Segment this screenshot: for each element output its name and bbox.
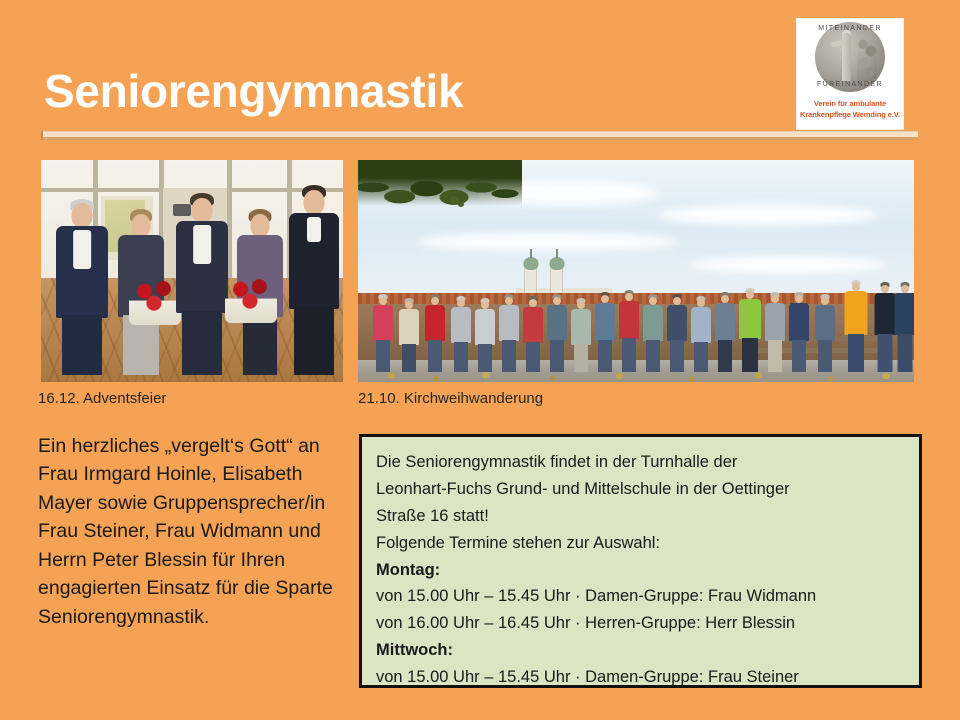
person-figure	[113, 203, 169, 375]
logo-arc-bottom: FÜREINANDER	[797, 81, 903, 88]
person-figure	[738, 288, 762, 372]
person-legs	[243, 315, 277, 375]
person-figure	[522, 296, 544, 372]
person-legs	[526, 342, 540, 372]
presentation-slide: Seniorengymnastik MITEINANDER FÜREINANDE…	[0, 0, 960, 720]
person-figure	[285, 185, 343, 375]
person-legs	[718, 340, 732, 372]
person-legs	[376, 340, 390, 372]
person-figure	[666, 294, 688, 372]
person-figure	[450, 296, 472, 372]
person-figure	[764, 292, 786, 372]
person-legs	[792, 340, 806, 372]
person-head	[901, 285, 909, 293]
tree-leaf	[450, 196, 459, 203]
person-head	[251, 214, 270, 237]
photo-adventsfeier	[41, 160, 343, 382]
logo-medal-area: MITEINANDER FÜREINANDER	[797, 19, 903, 95]
person-figure	[788, 292, 810, 372]
person-jacket	[643, 305, 663, 341]
person-head	[304, 190, 325, 215]
person-head	[625, 293, 633, 301]
person-figure	[546, 294, 568, 372]
person-shirt	[193, 225, 211, 264]
person-figure	[594, 292, 616, 372]
person-jacket	[451, 307, 471, 343]
logo-caption: Verein für ambulante Krankenpflege Wemdi…	[797, 99, 903, 121]
person-jacket	[425, 305, 445, 341]
person-legs	[848, 334, 864, 372]
tree-foliage	[358, 160, 522, 206]
church-dome	[550, 257, 565, 270]
person-head	[505, 297, 513, 305]
person-legs	[622, 338, 636, 372]
person-head	[649, 297, 657, 305]
person-head	[795, 295, 803, 303]
photo-caption-right: 21.10. Kirchweihwanderung	[358, 390, 543, 407]
person-figure	[171, 191, 233, 375]
person-figure	[474, 298, 496, 372]
schedule-line: von 15.00 Uhr – 15.45 Uhr · Damen-Gruppe…	[376, 583, 905, 610]
person-figure	[51, 195, 113, 375]
person-legs	[694, 342, 708, 372]
person-legs	[598, 340, 612, 372]
logo-caption-line-2: Krankenpflege Wemding e.V.	[797, 110, 903, 121]
schedule-line: von 16.00 Uhr – 16.45 Uhr · Herren-Grupp…	[376, 610, 905, 637]
person-figure	[690, 296, 712, 372]
person-legs	[768, 340, 782, 372]
person-head	[132, 214, 151, 237]
person-legs	[742, 338, 758, 372]
person-figure	[894, 282, 914, 372]
title-divider-shadow	[41, 137, 918, 140]
person-head	[529, 299, 537, 307]
person-head	[697, 299, 705, 307]
photo-kirchweihwanderung	[358, 160, 914, 382]
person-head	[577, 301, 585, 309]
person-figure	[570, 298, 592, 372]
person-head	[821, 297, 829, 305]
person-head	[553, 297, 561, 305]
person-collar	[307, 217, 321, 242]
person-head	[673, 297, 681, 305]
person-jacket	[739, 299, 761, 339]
person-legs	[670, 340, 684, 372]
person-legs	[182, 311, 222, 375]
person-jacket	[815, 305, 835, 341]
poinsettia-bouquet	[225, 271, 277, 323]
person-head	[192, 198, 213, 223]
person-legs	[574, 344, 588, 372]
person-jacket	[373, 305, 393, 341]
church-dome	[524, 257, 539, 270]
person-legs	[878, 334, 893, 372]
schedule-line: Die Seniorengymnastik findet in der Turn…	[376, 449, 905, 476]
person-figure	[618, 290, 640, 372]
person-head	[431, 297, 439, 305]
organization-logo: MITEINANDER FÜREINANDER Verein für ambul…	[797, 19, 903, 129]
person-jacket	[399, 309, 419, 345]
schedule-line: Mittwoch:	[376, 637, 905, 664]
person-jacket	[499, 305, 519, 341]
person-head	[379, 297, 387, 305]
person-jacket	[691, 307, 711, 343]
person-head	[881, 285, 889, 293]
person-figure	[642, 294, 664, 372]
cloud	[658, 204, 878, 226]
person-legs	[454, 342, 468, 372]
person-legs	[428, 340, 442, 372]
person-jacket	[875, 293, 896, 335]
person-jacket	[619, 301, 639, 339]
person-figure	[874, 282, 896, 372]
schedule-line: Straße 16 statt!	[376, 503, 905, 530]
person-figure	[372, 294, 394, 372]
title-divider-cap	[41, 131, 43, 140]
person-jacket	[595, 303, 615, 341]
photo-caption-left: 16.12. Adventsfeier	[38, 390, 166, 407]
person-jacket	[895, 293, 915, 335]
church-spire	[556, 249, 558, 258]
person-head	[457, 299, 465, 307]
person-head	[405, 301, 413, 309]
person-legs	[402, 344, 416, 372]
person-jacket	[475, 309, 495, 345]
person-head	[721, 295, 729, 303]
person-figure	[814, 294, 836, 372]
person-figure	[844, 280, 868, 372]
person-suit	[176, 221, 228, 313]
person-jacket	[547, 305, 567, 341]
person-head	[481, 301, 489, 309]
person-legs	[294, 307, 334, 375]
schedule-line: von 15.00 Uhr – 15.45 Uhr · Damen-Gruppe…	[376, 664, 905, 691]
person-figure	[498, 294, 520, 372]
person-legs	[478, 344, 492, 372]
person-legs	[818, 340, 832, 372]
person-legs	[550, 340, 564, 372]
medal-tree	[857, 35, 877, 81]
thanks-paragraph: Ein herzliches „vergelt‘s Gott“ an Frau …	[38, 432, 338, 631]
page-title: Seniorengymnastik	[44, 66, 463, 117]
person-legs	[646, 340, 660, 372]
person-figure	[398, 298, 420, 372]
person-legs	[502, 340, 516, 372]
person-jacket	[845, 291, 868, 335]
schedule-line: Montag:	[376, 557, 905, 584]
person-head	[746, 291, 754, 299]
person-head	[852, 283, 860, 291]
person-figure	[424, 294, 446, 372]
person-figure	[231, 203, 289, 375]
church-spire	[530, 249, 532, 258]
logo-caption-line-1: Verein für ambulante	[797, 99, 903, 110]
person-figure	[714, 292, 736, 372]
person-coat	[56, 226, 108, 318]
person-jacket	[715, 303, 735, 341]
person-coat	[289, 213, 339, 309]
person-legs	[898, 334, 913, 372]
tree-leaf	[458, 202, 464, 207]
person-jacket	[571, 309, 591, 345]
person-head	[601, 295, 609, 303]
cloud	[418, 232, 678, 252]
person-jacket	[523, 307, 543, 343]
person-jacket	[667, 305, 687, 341]
person-legs	[62, 315, 102, 375]
person-head	[72, 203, 93, 228]
person-shirt	[73, 230, 91, 269]
person-jacket	[789, 303, 809, 341]
logo-arc-top: MITEINANDER	[797, 25, 903, 32]
schedule-info-box: Die Seniorengymnastik findet in der Turn…	[359, 434, 922, 688]
schedule-line: Leonhart-Fuchs Grund- und Mittelschule i…	[376, 476, 905, 503]
person-head	[771, 295, 779, 303]
cloud	[688, 256, 888, 274]
schedule-line: Folgende Termine stehen zur Auswahl:	[376, 530, 905, 557]
person-jacket	[765, 303, 785, 341]
title-divider	[41, 131, 918, 140]
